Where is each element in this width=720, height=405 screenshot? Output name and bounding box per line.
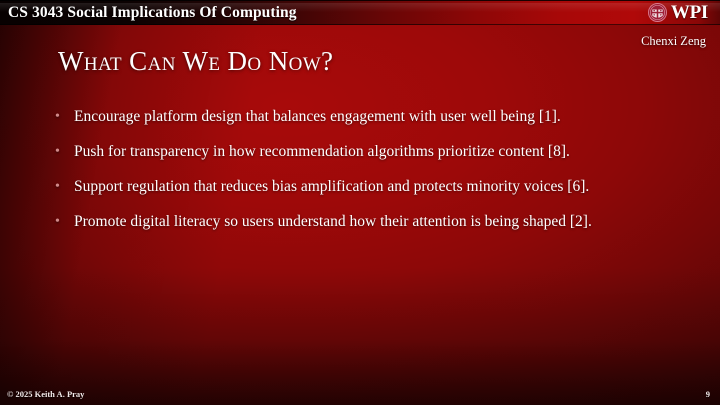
bullet-dot-icon: •: [55, 106, 74, 127]
presentation-slide: CS 3043 Social Implications Of Computing…: [0, 0, 720, 405]
list-item: • Promote digital literacy so users unde…: [55, 211, 615, 232]
course-title: CS 3043 Social Implications Of Computing: [8, 1, 297, 24]
list-item-text: Push for transparency in how recommendat…: [74, 141, 615, 162]
bullet-dot-icon: •: [55, 211, 74, 232]
slide-header-bar: CS 3043 Social Implications Of Computing: [0, 0, 720, 25]
bullet-dot-icon: •: [55, 141, 74, 162]
bullet-dot-icon: •: [55, 176, 74, 197]
list-item: • Push for transparency in how recommend…: [55, 141, 615, 162]
bullet-list: • Encourage platform design that balance…: [55, 106, 615, 246]
wpi-logo: WPI: [648, 1, 708, 24]
list-item-text: Support regulation that reduces bias amp…: [74, 176, 615, 197]
presenter-name: Chenxi Zeng: [641, 34, 706, 49]
list-item: • Support regulation that reduces bias a…: [55, 176, 615, 197]
footer-copyright: © 2025 Keith A. Pray: [7, 389, 84, 399]
list-item: • Encourage platform design that balance…: [55, 106, 615, 127]
list-item-text: Promote digital literacy so users unders…: [74, 211, 615, 232]
wpi-wordmark: WPI: [671, 3, 708, 22]
wpi-seal-icon: [648, 3, 667, 22]
list-item-text: Encourage platform design that balances …: [74, 106, 615, 127]
slide-page-number: 9: [706, 389, 710, 399]
slide-title: What Can We Do Now?: [58, 46, 333, 77]
